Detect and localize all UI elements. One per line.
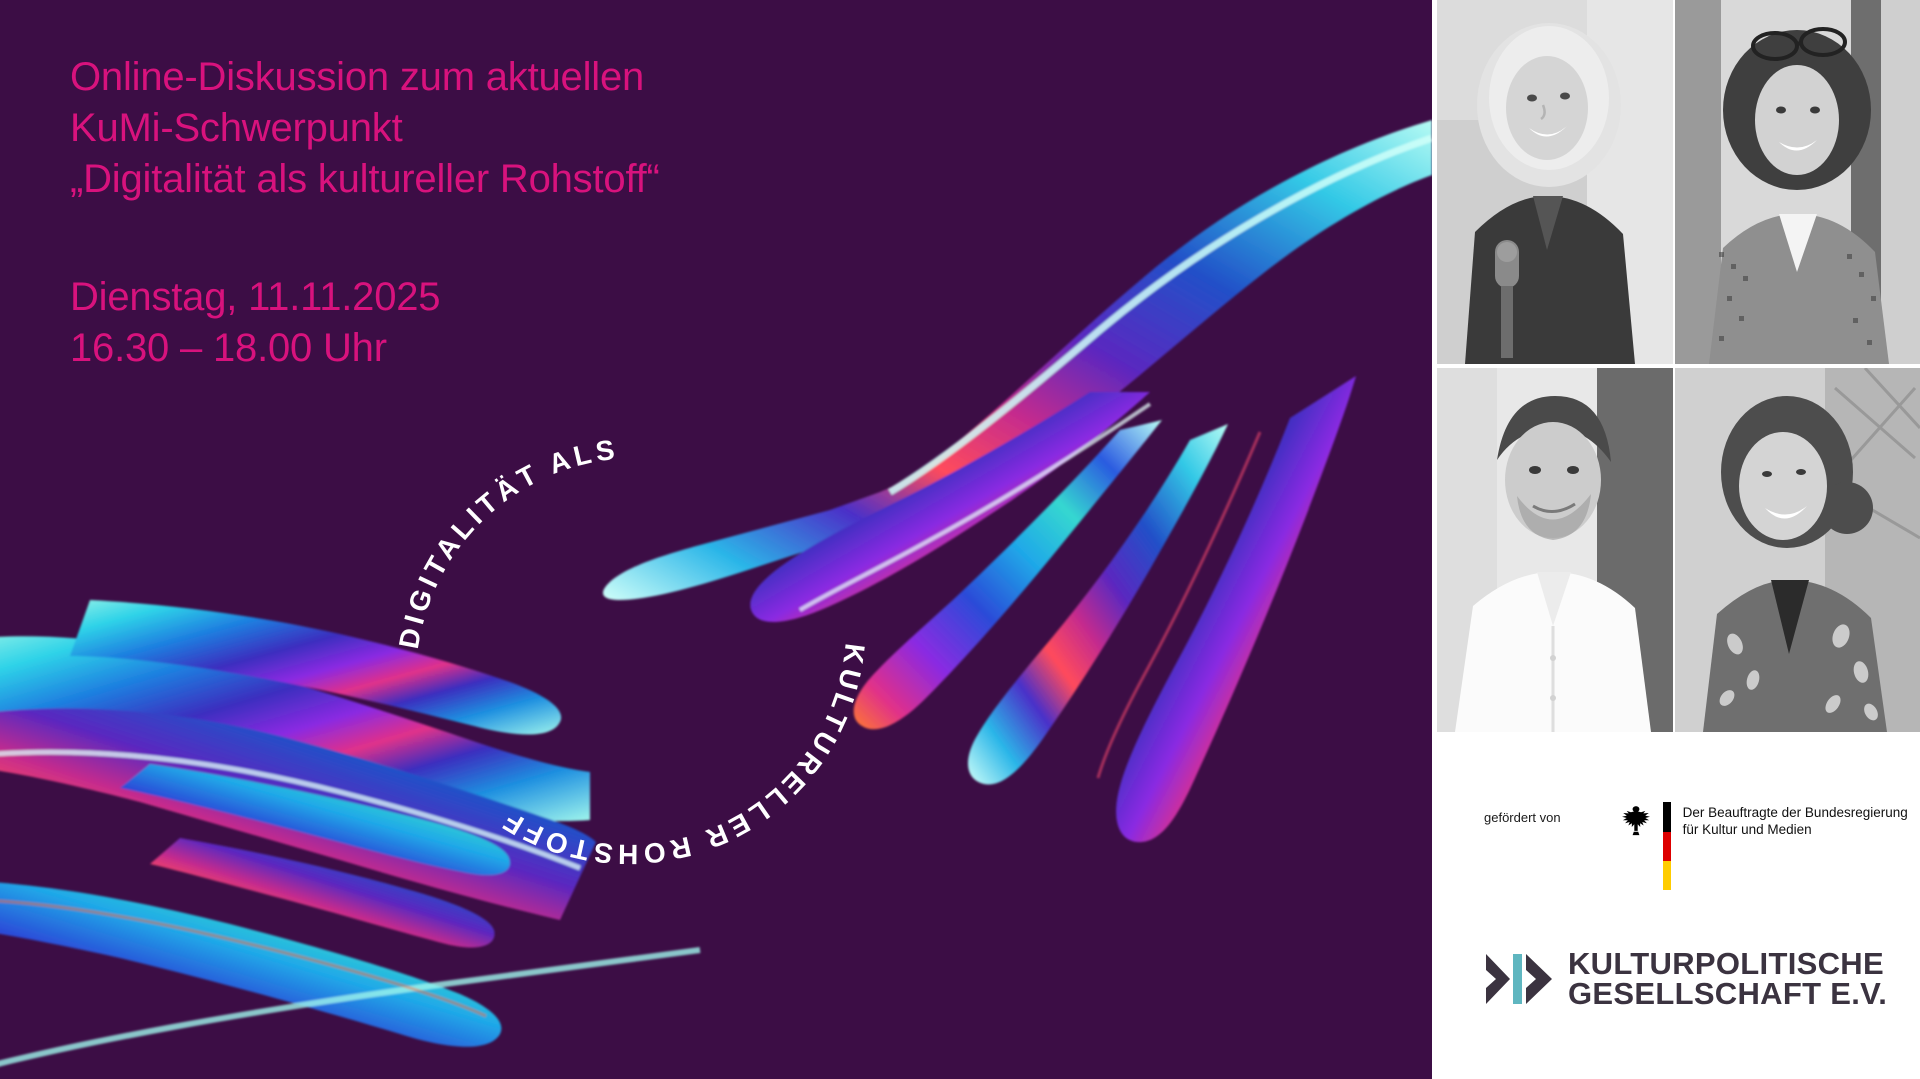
funder-label: gefördert von xyxy=(1484,810,1561,825)
headline-line-1: Online-Diskussion zum aktuellen xyxy=(70,52,970,103)
speaker-photo-1 xyxy=(1437,0,1673,364)
headline-line-3: „Digitalität als kultureller Rohstoff“ xyxy=(70,154,970,205)
funder-name: Der Beauftragte der Bundesregierung für … xyxy=(1683,804,1908,838)
headline-line-2: KuMi-Schwerpunkt xyxy=(70,103,970,154)
circular-text-bottom-path: KULTURELLER ROHSTOFF xyxy=(495,642,871,870)
federal-eagle-icon xyxy=(1619,802,1653,836)
kupoge-wordmark-line-1: KULTURPOLITISCHE xyxy=(1568,949,1887,979)
circular-text-top: DIGITALITÄT ALS xyxy=(398,433,621,651)
left-purple-panel: Online-Diskussion zum aktuellen KuMi-Sch… xyxy=(0,0,1432,1079)
speaker-photo-3 xyxy=(1437,368,1673,732)
speaker-photo-2 xyxy=(1675,0,1920,364)
kupoge-wordmark: KULTURPOLITISCHE GESELLSCHAFT E.V. xyxy=(1568,949,1887,1009)
german-flag-bar xyxy=(1663,802,1671,890)
circular-text-group: DIGITALITÄT ALS KULTURELLER ROHSTOFF xyxy=(398,400,878,880)
kupoge-wordmark-line-2: GESELLSCHAFT E.V. xyxy=(1568,979,1887,1009)
circular-text-top-path: DIGITALITÄT ALS xyxy=(398,433,621,651)
funder-logo: gefördert von Der Beauftragte der Bundes… xyxy=(1432,790,1920,900)
kupoge-chevron-mark xyxy=(1484,948,1554,1010)
date-time-block: Dienstag, 11.11.2025 16.30 – 18.00 Uhr xyxy=(70,272,770,374)
right-white-panel: gefördert von Der Beauftragte der Bundes… xyxy=(1432,0,1920,1079)
kulturpolitische-gesellschaft-logo: KULTURPOLITISCHE GESELLSCHAFT E.V. xyxy=(1484,948,1887,1010)
poster-root: Online-Diskussion zum aktuellen KuMi-Sch… xyxy=(0,0,1920,1079)
event-date: Dienstag, 11.11.2025 xyxy=(70,272,770,323)
speaker-photo-grid xyxy=(1437,0,1920,732)
event-time: 16.30 – 18.00 Uhr xyxy=(70,323,770,374)
funder-name-line-2: für Kultur und Medien xyxy=(1683,821,1908,838)
funder-name-line-1: Der Beauftragte der Bundesregierung xyxy=(1683,804,1908,821)
circular-text-bottom: KULTURELLER ROHSTOFF xyxy=(495,642,871,870)
headline-block: Online-Diskussion zum aktuellen KuMi-Sch… xyxy=(70,52,970,205)
speaker-photo-4 xyxy=(1675,368,1920,732)
